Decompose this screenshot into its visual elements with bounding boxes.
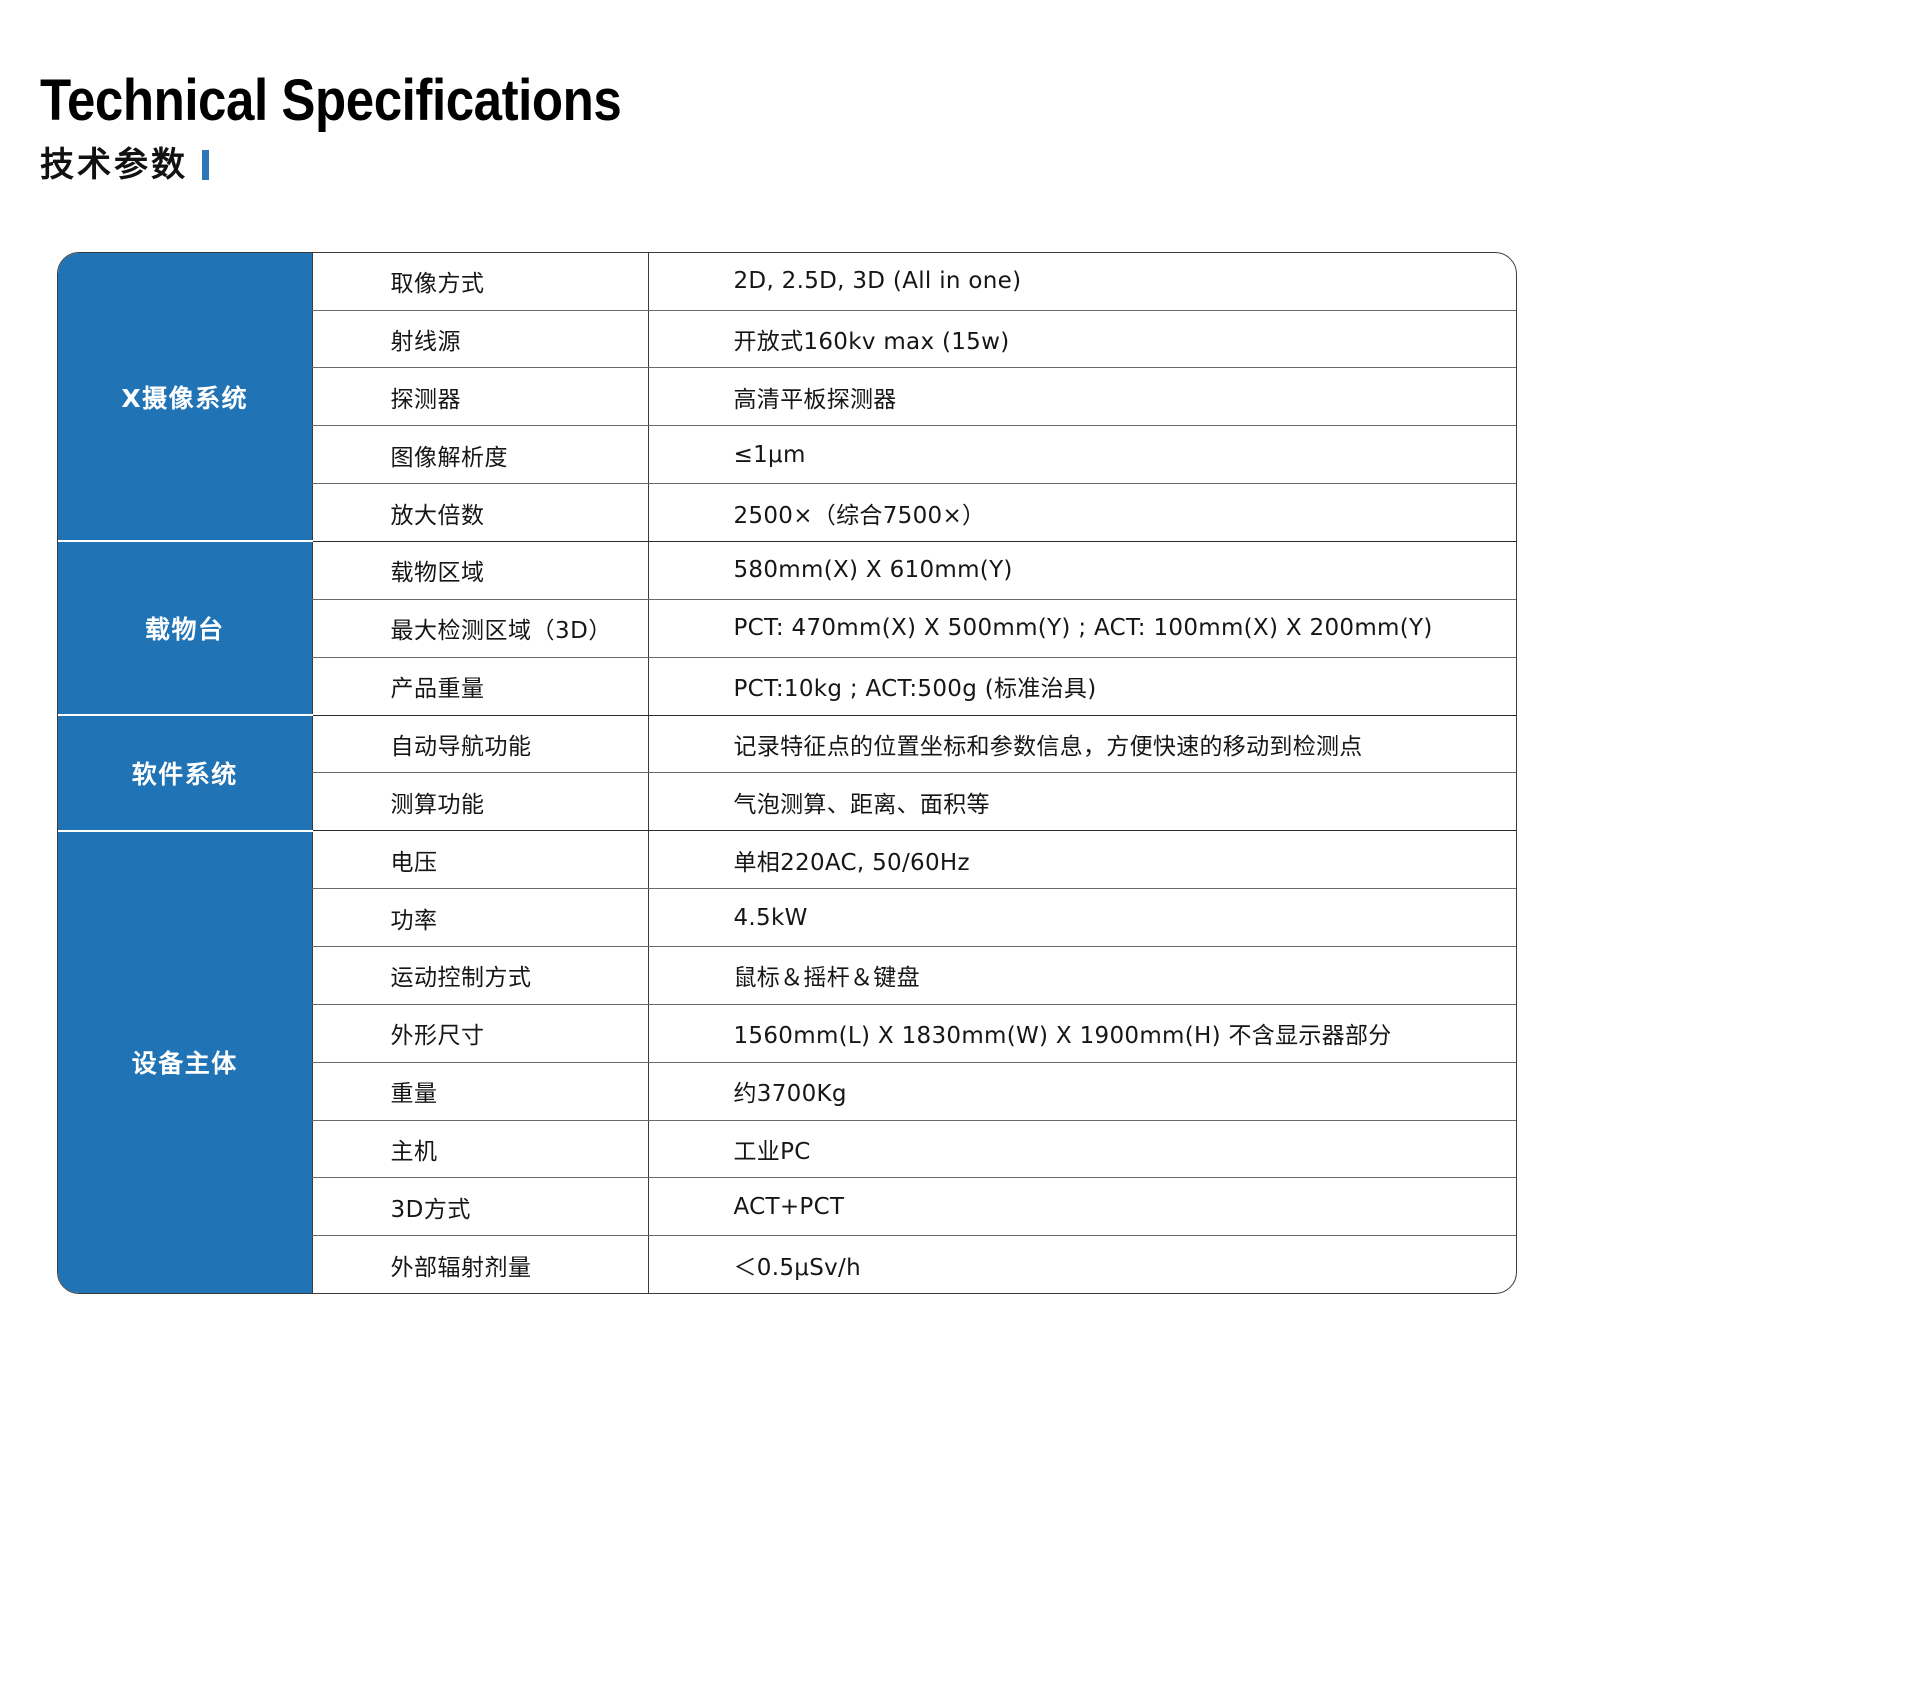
spec-param-label: 运动控制方式 (312, 946, 648, 1004)
spec-param-value: 工业PC (648, 1120, 1516, 1178)
spec-param-label: 取像方式 (312, 253, 648, 310)
spec-param-label: 探测器 (312, 368, 648, 426)
spec-param-label: 外形尺寸 (312, 1004, 648, 1062)
spec-param-value: ≤1μm (648, 426, 1516, 484)
spec-param-label: 外部辐射剂量 (312, 1236, 648, 1293)
spec-param-value: 2D, 2.5D, 3D (All in one) (648, 253, 1516, 310)
spec-param-label: 电压 (312, 831, 648, 889)
spec-table-grid: X摄像系统取像方式2D, 2.5D, 3D (All in one)射线源开放式… (58, 253, 1516, 1293)
spec-param-value: 高清平板探测器 (648, 368, 1516, 426)
spec-param-value: 580mm(X) X 610mm(Y) (648, 541, 1516, 599)
spec-param-label: 射线源 (312, 310, 648, 368)
spec-param-label: 载物区域 (312, 541, 648, 599)
spec-category-4: 设备主体 (58, 831, 312, 1293)
spec-row: 软件系统自动导航功能记录特征点的位置坐标和参数信息，方便快速的移动到检测点 (58, 715, 1516, 773)
spec-param-label: 产品重量 (312, 657, 648, 715)
spec-param-label: 重量 (312, 1062, 648, 1120)
page-header: Technical Specifications 技术参数 (40, 72, 701, 182)
spec-category-2: 载物台 (58, 541, 312, 715)
spec-param-value: 记录特征点的位置坐标和参数信息，方便快速的移动到检测点 (648, 715, 1516, 773)
spec-param-label: 自动导航功能 (312, 715, 648, 773)
title-accent-bar (202, 150, 209, 180)
page-title-en: Technical Specifications (40, 72, 621, 130)
specifications-table: X摄像系统取像方式2D, 2.5D, 3D (All in one)射线源开放式… (57, 252, 1517, 1294)
spec-table-body: X摄像系统取像方式2D, 2.5D, 3D (All in one)射线源开放式… (58, 253, 1516, 1293)
spec-param-label: 图像解析度 (312, 426, 648, 484)
spec-param-label: 放大倍数 (312, 484, 648, 542)
spec-param-value: 开放式160kv max (15w) (648, 310, 1516, 368)
spec-param-value: PCT:10kg ; ACT:500g (标准治具) (648, 657, 1516, 715)
page-subtitle-row: 技术参数 (40, 148, 701, 182)
spec-param-value: ACT+PCT (648, 1178, 1516, 1236)
spec-param-label: 功率 (312, 889, 648, 947)
spec-param-label: 主机 (312, 1120, 648, 1178)
spec-param-value: 2500×（综合7500×） (648, 484, 1516, 542)
spec-param-value: 单相220AC, 50/60Hz (648, 831, 1516, 889)
spec-param-value: 4.5kW (648, 889, 1516, 947)
spec-row: 载物台载物区域580mm(X) X 610mm(Y) (58, 541, 1516, 599)
spec-param-value: 气泡测算、距离、面积等 (648, 773, 1516, 831)
spec-param-value: 鼠标＆摇杆＆键盘 (648, 946, 1516, 1004)
page-title-cn: 技术参数 (40, 148, 188, 182)
spec-param-label: 测算功能 (312, 773, 648, 831)
spec-row: 设备主体电压单相220AC, 50/60Hz (58, 831, 1516, 889)
spec-param-label: 3D方式 (312, 1178, 648, 1236)
spec-category-3: 软件系统 (58, 715, 312, 831)
spec-category-1: X摄像系统 (58, 253, 312, 541)
spec-row: X摄像系统取像方式2D, 2.5D, 3D (All in one) (58, 253, 1516, 310)
spec-param-value: 1560mm(L) X 1830mm(W) X 1900mm(H) 不含显示器部… (648, 1004, 1516, 1062)
spec-param-value: ＜0.5μSv/h (648, 1236, 1516, 1293)
spec-param-label: 最大检测区域（3D） (312, 599, 648, 657)
spec-param-value: 约3700Kg (648, 1062, 1516, 1120)
spec-param-value: PCT: 470mm(X) X 500mm(Y) ; ACT: 100mm(X)… (648, 599, 1516, 657)
